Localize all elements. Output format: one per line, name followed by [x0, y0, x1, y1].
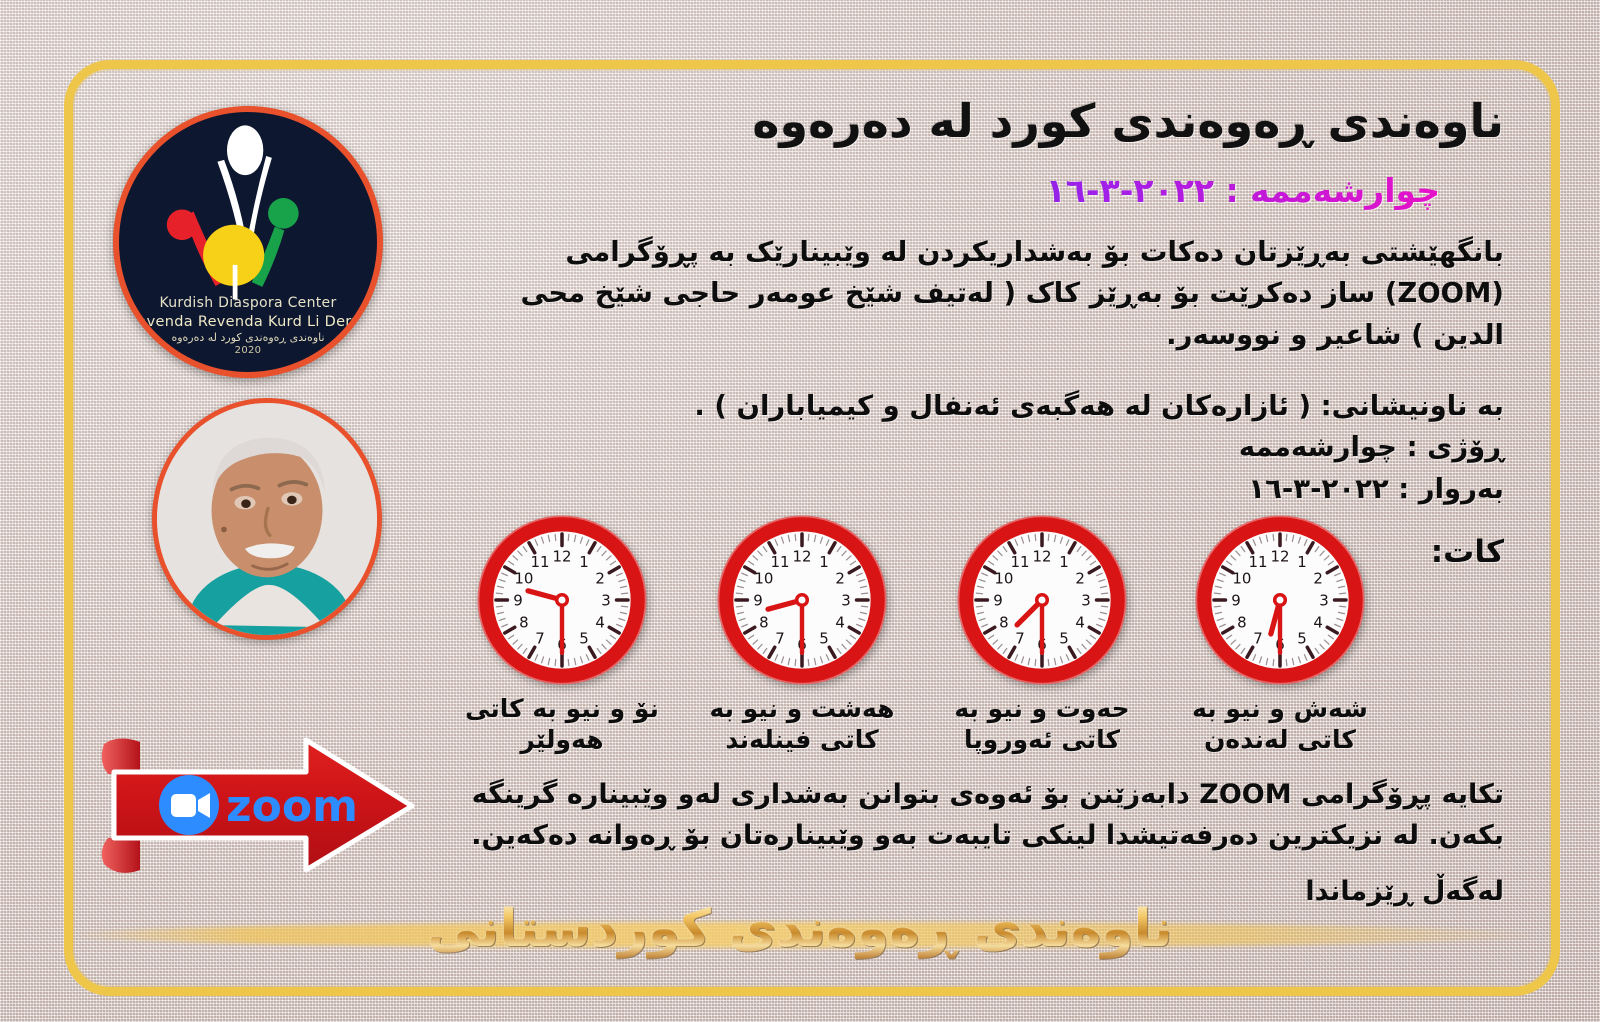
logo-caption: Kurdish Diaspora Center Navenda Revenda … — [119, 295, 377, 358]
svg-text:9: 9 — [513, 591, 523, 609]
analog-clock-face: 121234567891011 — [714, 512, 890, 688]
svg-text:12: 12 — [792, 547, 811, 565]
clock-item-finland: 121234567891011 هەشت و نیو بە کاتی فینلە… — [697, 512, 907, 755]
svg-text:2: 2 — [595, 569, 605, 587]
svg-text:10: 10 — [514, 569, 533, 587]
poster-root: Kurdish Diaspora Center Navenda Revenda … — [0, 0, 1600, 1022]
timezone-clock-row: 121234567891011 شەش و نیو بە کاتی لەندەن… — [455, 512, 1385, 782]
svg-text:12: 12 — [552, 547, 571, 565]
svg-text:2: 2 — [1075, 569, 1085, 587]
analog-clock-face: 121234567891011 — [1192, 512, 1368, 688]
svg-text:5: 5 — [579, 629, 589, 647]
logo-line-kurmanji: Navenda Revenda Kurd Li Dervê — [119, 313, 377, 332]
clock-label: هەشت و نیو بە کاتی فینلەند — [697, 694, 907, 755]
svg-text:12: 12 — [1270, 547, 1289, 565]
event-date: بەروار : ٢٠٢٢-٣-١٦ — [494, 469, 1504, 510]
svg-text:9: 9 — [753, 591, 763, 609]
svg-text:2: 2 — [1313, 569, 1323, 587]
page-title: ناوەندی ڕەوەندی کورد لە دەرەوە — [504, 96, 1504, 147]
svg-text:7: 7 — [1253, 629, 1263, 647]
svg-text:1: 1 — [819, 553, 829, 571]
event-details-block: بە ناونیشانی: ( ئازارەکان لە هەگبەی ئەنف… — [494, 386, 1504, 510]
svg-text:2: 2 — [835, 569, 845, 587]
event-subject: بە ناونیشانی: ( ئازارەکان لە هەگبەی ئەنف… — [494, 386, 1504, 427]
svg-text:11: 11 — [1010, 553, 1029, 571]
svg-text:10: 10 — [994, 569, 1013, 587]
svg-text:10: 10 — [1232, 569, 1251, 587]
clock-label: شەش و نیو بە کاتی لەندەن — [1175, 694, 1385, 755]
analog-clock-face: 121234567891011 — [954, 512, 1130, 688]
logo-line-sorani: ناوەندی ڕەوەندی کورد لە دەرەوە — [119, 331, 377, 345]
svg-text:1: 1 — [579, 553, 589, 571]
svg-text:3: 3 — [1319, 591, 1329, 609]
event-date-headline: چوارشەممە : ٢٠٢٢-٣-١٦ — [540, 172, 1440, 210]
svg-text:5: 5 — [1297, 629, 1307, 647]
clock-item-europe: 121234567891011 حەوت و نیو بە کاتی ئەورو… — [937, 512, 1147, 755]
svg-text:3: 3 — [1081, 591, 1091, 609]
invitation-paragraph: بانگهێشتی بەڕێزتان دەکات بۆ بەشداریکردن … — [494, 232, 1504, 356]
svg-text:4: 4 — [1075, 613, 1085, 631]
clock-label: حەوت و نیو بە کاتی ئەوروپا — [937, 694, 1147, 755]
svg-text:4: 4 — [835, 613, 845, 631]
svg-text:5: 5 — [1059, 629, 1069, 647]
svg-text:1: 1 — [1297, 553, 1307, 571]
svg-text:8: 8 — [1237, 613, 1247, 631]
speaker-portrait — [152, 398, 382, 640]
svg-text:11: 11 — [530, 553, 549, 571]
svg-text:3: 3 — [601, 591, 611, 609]
clock-item-hewler: 121234567891011 نۆ و نیو بە کاتی هەولێر — [457, 512, 667, 755]
svg-text:8: 8 — [999, 613, 1009, 631]
zoom-arrow-banner: zoom — [96, 712, 426, 892]
analog-clock-face: 121234567891011 — [474, 512, 650, 688]
svg-text:7: 7 — [1015, 629, 1025, 647]
svg-text:11: 11 — [770, 553, 789, 571]
svg-text:12: 12 — [1032, 547, 1051, 565]
logo-line-english: Kurdish Diaspora Center — [119, 295, 377, 313]
svg-text:4: 4 — [595, 613, 605, 631]
svg-text:10: 10 — [754, 569, 773, 587]
svg-text:9: 9 — [1231, 591, 1241, 609]
svg-text:1: 1 — [1059, 553, 1069, 571]
svg-text:9: 9 — [993, 591, 1003, 609]
time-section-label: کات: — [1431, 534, 1504, 570]
logo-line-year: 2020 — [119, 345, 377, 358]
organization-logo: Kurdish Diaspora Center Navenda Revenda … — [113, 106, 383, 378]
svg-text:7: 7 — [535, 629, 545, 647]
clock-label: نۆ و نیو بە کاتی هەولێر — [457, 694, 667, 755]
svg-text:7: 7 — [775, 629, 785, 647]
svg-text:8: 8 — [519, 613, 529, 631]
svg-text:11: 11 — [1248, 553, 1267, 571]
svg-text:4: 4 — [1313, 613, 1323, 631]
svg-text:8: 8 — [759, 613, 769, 631]
svg-text:3: 3 — [841, 591, 851, 609]
zoom-instructions-paragraph: تکایە پڕۆگرامی ZOOM دابەزێنن بۆ ئەوەی بت… — [454, 775, 1504, 856]
event-day: ڕۆژی : چوارشەممە — [494, 427, 1504, 468]
svg-text:5: 5 — [819, 629, 829, 647]
footer-organization-name: ناوەندی ڕەوەندی کوردستانی — [0, 900, 1600, 960]
clock-item-london: 121234567891011 شەش و نیو بە کاتی لەندەن — [1175, 512, 1385, 755]
zoom-wordmark: zoom — [226, 781, 358, 832]
